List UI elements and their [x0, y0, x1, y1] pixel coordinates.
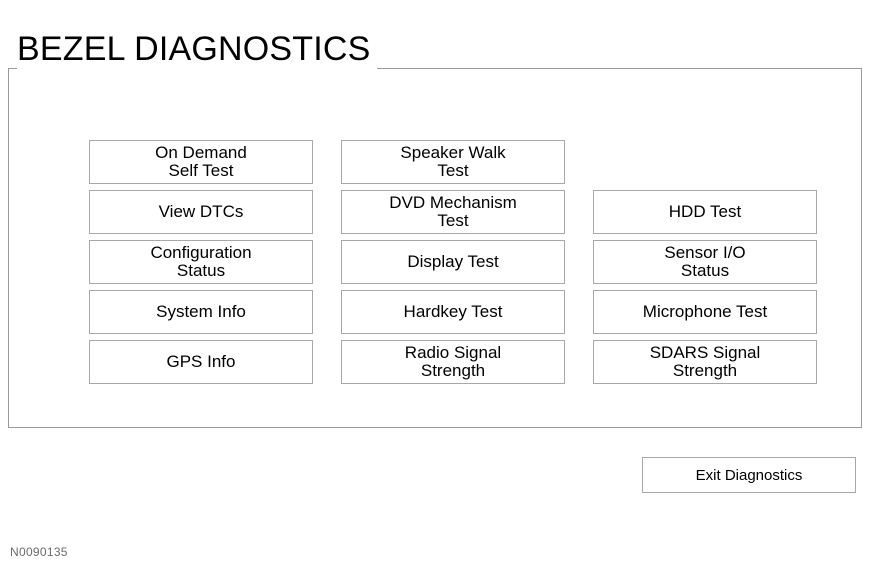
button-radio-signal-strength[interactable]: Radio Signal Strength	[341, 340, 565, 384]
button-label: DVD Mechanism Test	[385, 194, 521, 230]
button-hdd-test[interactable]: HDD Test	[593, 190, 817, 234]
exit-button-label: Exit Diagnostics	[696, 467, 803, 484]
exit-diagnostics-button[interactable]: Exit Diagnostics	[642, 457, 856, 493]
button-label: Sensor I/O Status	[660, 244, 749, 280]
button-label: System Info	[152, 303, 250, 321]
button-label: GPS Info	[163, 353, 240, 371]
button-sdars-signal-strength[interactable]: SDARS Signal Strength	[593, 340, 817, 384]
button-view-dtcs[interactable]: View DTCs	[89, 190, 313, 234]
button-label: Radio Signal Strength	[401, 344, 505, 380]
button-on-demand-self-test[interactable]: On Demand Self Test	[89, 140, 313, 184]
button-label: Microphone Test	[639, 303, 771, 321]
button-speaker-walk-test[interactable]: Speaker Walk Test	[341, 140, 565, 184]
button-label: View DTCs	[155, 203, 248, 221]
diagnostics-screen: BEZEL DIAGNOSTICS On Demand Self Test Vi…	[0, 0, 870, 570]
button-system-info[interactable]: System Info	[89, 290, 313, 334]
button-label: SDARS Signal Strength	[646, 344, 765, 380]
button-label: Speaker Walk Test	[396, 144, 509, 180]
button-gps-info[interactable]: GPS Info	[89, 340, 313, 384]
button-label: Display Test	[403, 253, 502, 271]
button-dvd-mechanism-test[interactable]: DVD Mechanism Test	[341, 190, 565, 234]
button-hardkey-test[interactable]: Hardkey Test	[341, 290, 565, 334]
button-label: Configuration Status	[146, 244, 255, 280]
diagnostics-panel: On Demand Self Test View DTCs Configurat…	[8, 68, 862, 428]
page-title: BEZEL DIAGNOSTICS	[17, 29, 377, 69]
button-label: HDD Test	[665, 203, 745, 221]
button-label: Hardkey Test	[400, 303, 507, 321]
button-label: On Demand Self Test	[151, 144, 251, 180]
button-sensor-io-status[interactable]: Sensor I/O Status	[593, 240, 817, 284]
button-configuration-status[interactable]: Configuration Status	[89, 240, 313, 284]
button-display-test[interactable]: Display Test	[341, 240, 565, 284]
button-microphone-test[interactable]: Microphone Test	[593, 290, 817, 334]
figure-reference-code: N0090135	[10, 545, 68, 559]
